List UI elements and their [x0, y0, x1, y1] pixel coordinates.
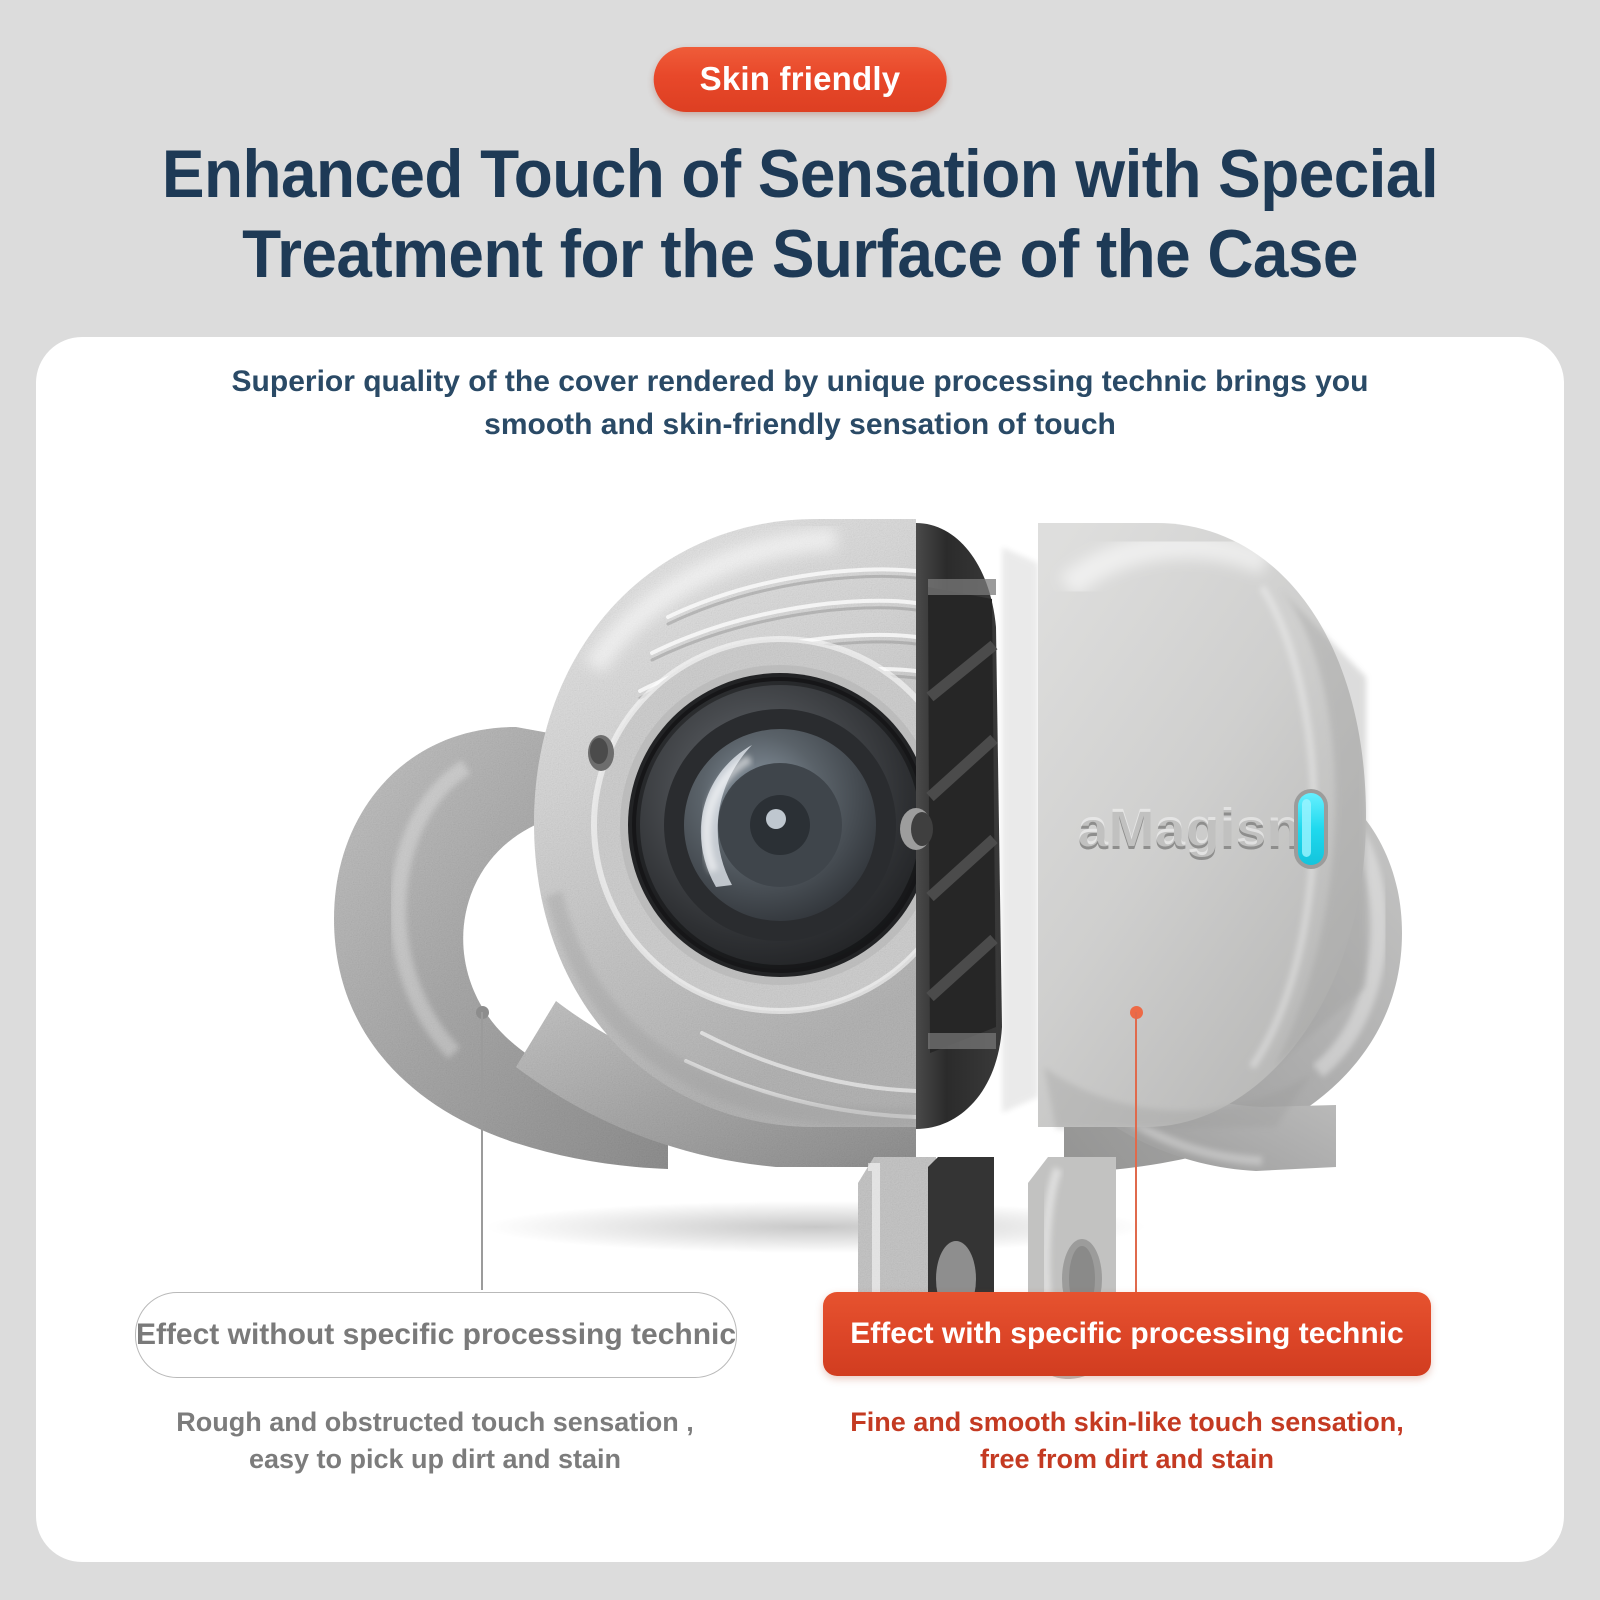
- page-title-line-2: Treatment for the Surface of the Case: [48, 215, 1552, 295]
- effect-with-technic-pill[interactable]: Effect with specific processing technic: [823, 1292, 1431, 1376]
- content-card: Superior quality of the cover rendered b…: [36, 337, 1564, 1562]
- page-title-line-1: Enhanced Touch of Sensation with Special: [48, 135, 1552, 215]
- side-button-nub: [588, 735, 614, 771]
- camera-lens: [628, 673, 932, 977]
- led-indicator: [1294, 789, 1328, 869]
- svg-text:aMagisn: aMagisn: [1078, 798, 1301, 858]
- connector-line-left: [481, 1012, 483, 1290]
- promo-graphic: Skin friendly Enhanced Touch of Sensatio…: [0, 0, 1600, 1600]
- connector-line-right: [1135, 1012, 1137, 1294]
- card-subtitle: Superior quality of the cover rendered b…: [156, 361, 1444, 446]
- caption-without-technic: Rough and obstructed touch sensation , e…: [135, 1404, 735, 1479]
- caption-with-technic: Fine and smooth skin-like touch sensatio…: [823, 1404, 1431, 1479]
- product-illustration: aMagisn aMagisn: [216, 467, 1396, 1267]
- skin-friendly-badge: Skin friendly: [654, 47, 947, 112]
- page-title: Enhanced Touch of Sensation with Special…: [48, 135, 1552, 294]
- effect-without-technic-pill[interactable]: Effect without specific processing techn…: [135, 1292, 737, 1378]
